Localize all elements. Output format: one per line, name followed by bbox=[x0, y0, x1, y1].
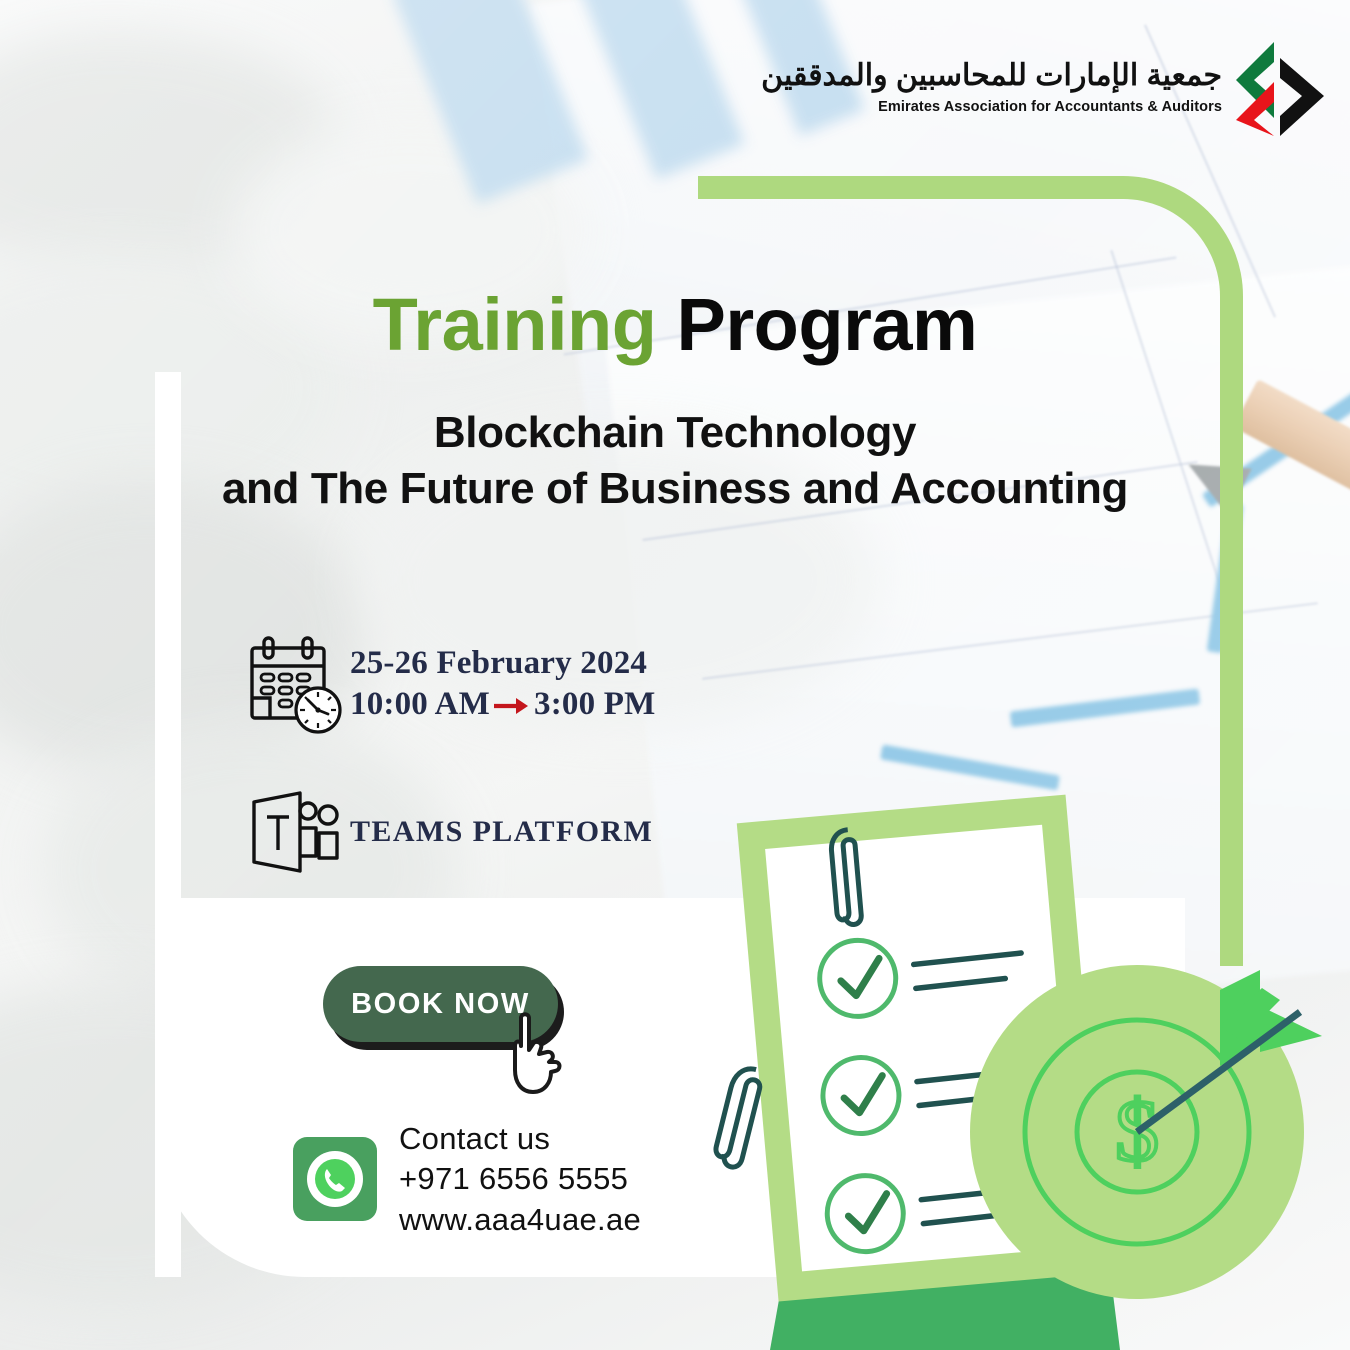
arrow-right-icon bbox=[494, 685, 528, 726]
time-start: 10:00 AM bbox=[350, 686, 490, 722]
training-program-poster: جمعية الإمارات للمحاسبين والمدققين Emira… bbox=[0, 0, 1350, 1350]
double-chevron-logo-icon bbox=[1236, 40, 1328, 136]
microsoft-teams-icon bbox=[238, 788, 350, 876]
book-now-area: BOOK NOW bbox=[323, 966, 568, 1052]
subtitle-line-2: and The Future of Business and Accountin… bbox=[0, 461, 1350, 517]
logo-arabic-name: جمعية الإمارات للمحاسبين والمدققين bbox=[761, 61, 1222, 91]
subtitle-line-1: Blockchain Technology bbox=[0, 405, 1350, 461]
logo-english-name: Emirates Association for Accountants & A… bbox=[761, 100, 1222, 115]
page-title: Training Program bbox=[0, 288, 1350, 362]
pointing-hand-cursor-icon bbox=[499, 1010, 577, 1096]
contact-phone[interactable]: +971 6556 5555 bbox=[399, 1159, 641, 1199]
detail-platform-text: TEAMS PLATFORM bbox=[350, 813, 653, 850]
title-black-word: Program bbox=[656, 283, 977, 366]
checklist-clipboard-with-dart-target-illustration: $ bbox=[700, 790, 1350, 1350]
event-details: 25-26 February 2024 10:00 AM3:00 PM bbox=[238, 636, 655, 876]
association-logo: جمعية الإمارات للمحاسبين والمدققين Emira… bbox=[761, 40, 1328, 136]
contact-website[interactable]: www.aaa4uae.ae bbox=[399, 1200, 641, 1240]
detail-date-line: 25-26 February 2024 bbox=[350, 643, 655, 684]
title-green-word: Training bbox=[373, 283, 657, 366]
contact-block[interactable]: Contact us +971 6556 5555 www.aaa4uae.ae bbox=[293, 1119, 641, 1240]
detail-date-text: 25-26 February 2024 10:00 AM3:00 PM bbox=[350, 643, 655, 728]
detail-time-line: 10:00 AM3:00 PM bbox=[350, 684, 655, 728]
detail-row-platform: TEAMS PLATFORM bbox=[238, 788, 655, 876]
page-subtitle: Blockchain Technology and The Future of … bbox=[0, 405, 1350, 518]
contact-text: Contact us +971 6556 5555 www.aaa4uae.ae bbox=[399, 1119, 641, 1240]
whatsapp-phone-icon[interactable] bbox=[293, 1137, 377, 1221]
contact-label: Contact us bbox=[399, 1119, 641, 1159]
calendar-clock-icon bbox=[238, 636, 350, 736]
detail-row-date: 25-26 February 2024 10:00 AM3:00 PM bbox=[238, 636, 655, 736]
time-end: 3:00 PM bbox=[534, 686, 655, 722]
